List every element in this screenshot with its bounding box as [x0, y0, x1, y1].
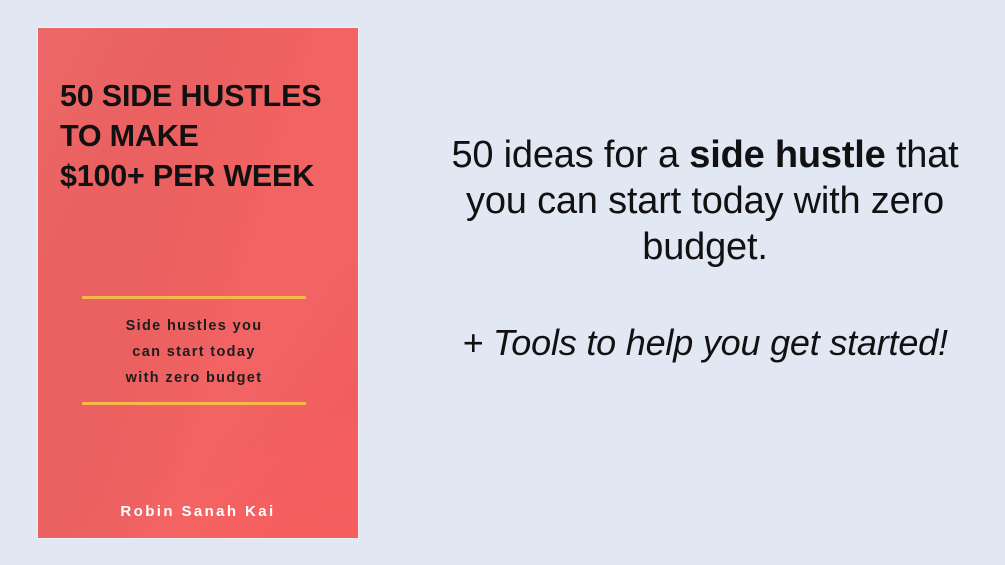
cover-rule-bottom — [82, 402, 306, 405]
cover-title: 50 SIDE HUSTLES TO MAKE $100+ PER WEEK — [60, 76, 344, 196]
slide-canvas: 50 SIDE HUSTLES TO MAKE $100+ PER WEEK S… — [0, 0, 1005, 565]
book-cover-image: 50 SIDE HUSTLES TO MAKE $100+ PER WEEK S… — [38, 28, 358, 538]
copy-panel: 50 ideas for a side hustle that you can … — [420, 132, 990, 366]
headline-text-before: 50 ideas for a — [451, 134, 689, 176]
headline-emphasis: side hustle — [689, 134, 885, 176]
headline: 50 ideas for a side hustle that you can … — [420, 132, 990, 270]
subheadline: + Tools to help you get started! — [420, 320, 990, 366]
cover-subtitle-block: Side hustles you can start today with ze… — [82, 296, 306, 405]
cover-author-name: Robin Sanah Kai — [38, 503, 358, 520]
cover-subtitle: Side hustles you can start today with ze… — [82, 299, 306, 402]
